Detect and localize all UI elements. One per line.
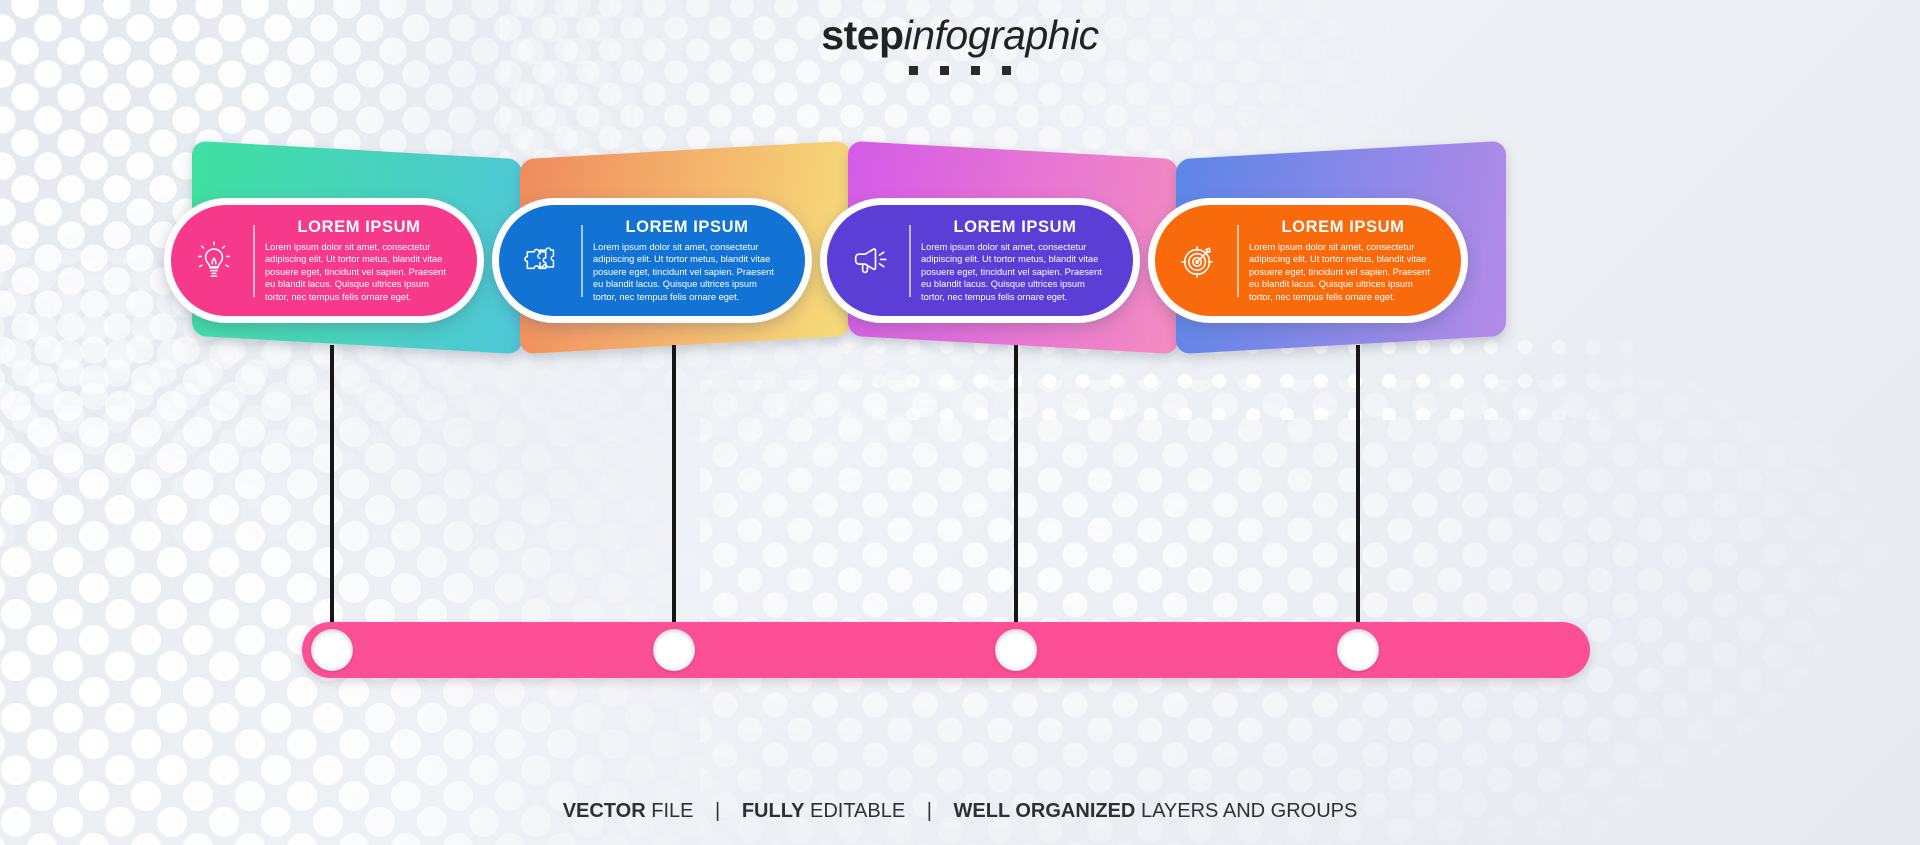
step-divider bbox=[253, 225, 255, 297]
step-divider bbox=[1237, 225, 1239, 297]
footer-vector-bold: VECTOR bbox=[563, 800, 646, 822]
steps-container: LOREM IPSUMLorem ipsum dolor sit amet, c… bbox=[0, 150, 1920, 380]
footer-organized-bold: WELL ORGANIZED bbox=[954, 800, 1136, 822]
footer-fully-rest: EDITABLE bbox=[810, 800, 905, 822]
timeline-node-2[interactable] bbox=[653, 629, 695, 671]
connector-line-1 bbox=[330, 345, 334, 635]
step-title: LOREM IPSUM bbox=[593, 218, 781, 237]
footer-separator: | bbox=[911, 800, 948, 823]
connector-line-4 bbox=[1356, 345, 1360, 635]
step-title: LOREM IPSUM bbox=[921, 218, 1109, 237]
step-text-block: LOREM IPSUMLorem ipsum dolor sit amet, c… bbox=[593, 218, 793, 303]
step-body: Lorem ipsum dolor sit amet, consectetur … bbox=[593, 241, 781, 303]
target-icon bbox=[1161, 239, 1235, 283]
page-title: stepinfographic bbox=[0, 14, 1920, 57]
step-pill-1[interactable]: LOREM IPSUMLorem ipsum dolor sit amet, c… bbox=[164, 198, 484, 323]
title-italic: infographic bbox=[904, 12, 1099, 58]
step-text-block: LOREM IPSUMLorem ipsum dolor sit amet, c… bbox=[265, 218, 465, 303]
timeline-node-4[interactable] bbox=[1337, 629, 1379, 671]
step-body: Lorem ipsum dolor sit amet, consectetur … bbox=[921, 241, 1109, 303]
step-title: LOREM IPSUM bbox=[1249, 218, 1437, 237]
megaphone-icon bbox=[833, 239, 907, 283]
title-dot bbox=[940, 66, 949, 75]
step-card-4[interactable]: LOREM IPSUMLorem ipsum dolor sit amet, c… bbox=[1148, 150, 1568, 370]
step-pill-3[interactable]: LOREM IPSUMLorem ipsum dolor sit amet, c… bbox=[820, 198, 1140, 323]
footer-organized-rest: LAYERS AND GROUPS bbox=[1141, 800, 1357, 822]
step-text-block: LOREM IPSUMLorem ipsum dolor sit amet, c… bbox=[1249, 218, 1449, 303]
lightbulb-icon bbox=[177, 239, 251, 283]
title-dot bbox=[909, 66, 918, 75]
connector-line-2 bbox=[672, 345, 676, 635]
footer-separator: | bbox=[699, 800, 736, 823]
title-dots bbox=[0, 66, 1920, 75]
title-dot bbox=[1002, 66, 1011, 75]
step-divider bbox=[581, 225, 583, 297]
footer-vector-rest: FILE bbox=[651, 800, 693, 822]
step-text-block: LOREM IPSUMLorem ipsum dolor sit amet, c… bbox=[921, 218, 1121, 303]
footer: VECTOR FILE | FULLY EDITABLE | WELL ORGA… bbox=[0, 800, 1920, 823]
step-title: LOREM IPSUM bbox=[265, 218, 453, 237]
connector-line-3 bbox=[1014, 345, 1018, 635]
step-pill-2[interactable]: LOREM IPSUMLorem ipsum dolor sit amet, c… bbox=[492, 198, 812, 323]
step-body: Lorem ipsum dolor sit amet, consectetur … bbox=[265, 241, 453, 303]
title-bold: step bbox=[821, 12, 903, 58]
footer-fully-bold: FULLY bbox=[742, 800, 805, 822]
step-pill-4[interactable]: LOREM IPSUMLorem ipsum dolor sit amet, c… bbox=[1148, 198, 1468, 323]
timeline-node-3[interactable] bbox=[995, 629, 1037, 671]
step-divider bbox=[909, 225, 911, 297]
puzzle-icon bbox=[505, 239, 579, 283]
background bbox=[0, 0, 1920, 845]
step-body: Lorem ipsum dolor sit amet, consectetur … bbox=[1249, 241, 1437, 303]
timeline-bar[interactable] bbox=[302, 622, 1590, 678]
header: stepinfographic bbox=[0, 14, 1920, 75]
timeline-node-1[interactable] bbox=[311, 629, 353, 671]
title-dot bbox=[971, 66, 980, 75]
